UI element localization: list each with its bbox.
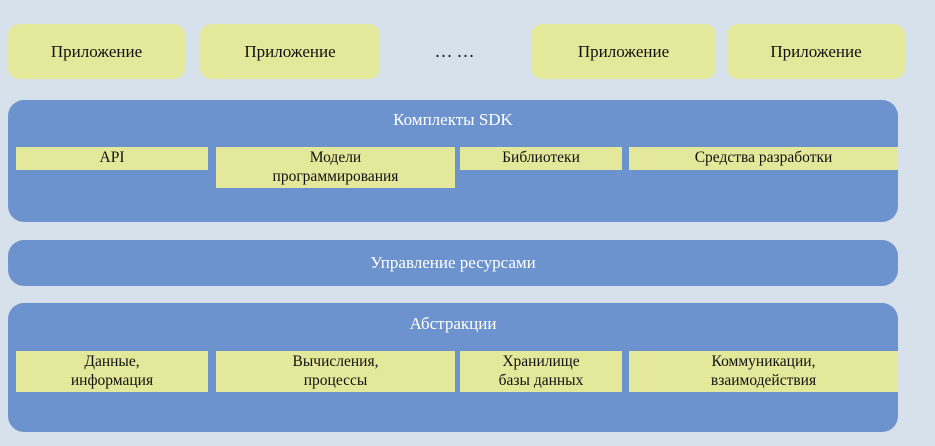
sdk-cell[interactable]: API xyxy=(16,147,208,170)
abstractions-cell-label: Данные, информация xyxy=(71,353,153,390)
application-box-label: Приложение xyxy=(51,42,142,62)
resource-management-panel-title: Управление ресурсами xyxy=(8,253,898,273)
sdk-panel-title: Комплекты SDK xyxy=(8,110,898,130)
application-box[interactable]: Приложение xyxy=(8,24,185,79)
sdk-cell[interactable]: Библиотеки xyxy=(460,147,622,170)
application-box[interactable]: Приложение xyxy=(531,24,716,79)
abstractions-cell[interactable]: Хранилище базы данных xyxy=(460,351,622,392)
abstractions-cell[interactable]: Данные, информация xyxy=(16,351,208,392)
ellipsis-separator: …… xyxy=(396,24,516,79)
application-box-label: Приложение xyxy=(244,42,335,62)
abstractions-cell[interactable]: Коммуникации, взаимодействия xyxy=(629,351,898,392)
sdk-cell-label: Средства разработки xyxy=(695,149,833,168)
sdk-panel: Комплекты SDK API Модели программировани… xyxy=(8,100,898,222)
abstractions-panel: Абстракции Данные, информация Вычисления… xyxy=(8,303,898,432)
application-layer-row: Приложение Приложение …… Приложение Прил… xyxy=(0,24,935,79)
sdk-cell-row: API Модели программирования Библиотеки С… xyxy=(8,147,898,203)
sdk-cell[interactable]: Средства разработки xyxy=(629,147,898,170)
application-box[interactable]: Приложение xyxy=(200,24,380,79)
application-box-label: Приложение xyxy=(770,42,861,62)
abstractions-cell-row: Данные, информация Вычисления, процессы … xyxy=(8,351,898,413)
sdk-cell[interactable]: Модели программирования xyxy=(216,147,455,188)
sdk-cell-label: API xyxy=(100,149,125,168)
abstractions-cell-label: Вычисления, процессы xyxy=(293,353,379,390)
sdk-cell-label: Библиотеки xyxy=(502,149,580,168)
abstractions-cell-label: Хранилище базы данных xyxy=(499,353,584,390)
application-box-label: Приложение xyxy=(578,42,669,62)
sdk-cell-label: Модели программирования xyxy=(273,149,399,186)
resource-management-panel: Управление ресурсами xyxy=(8,240,898,286)
abstractions-cell-label: Коммуникации, взаимодействия xyxy=(711,353,816,390)
abstractions-cell[interactable]: Вычисления, процессы xyxy=(216,351,455,392)
application-box[interactable]: Приложение xyxy=(727,24,905,79)
architecture-diagram: Приложение Приложение …… Приложение Прил… xyxy=(0,0,935,446)
abstractions-panel-title: Абстракции xyxy=(8,314,898,334)
